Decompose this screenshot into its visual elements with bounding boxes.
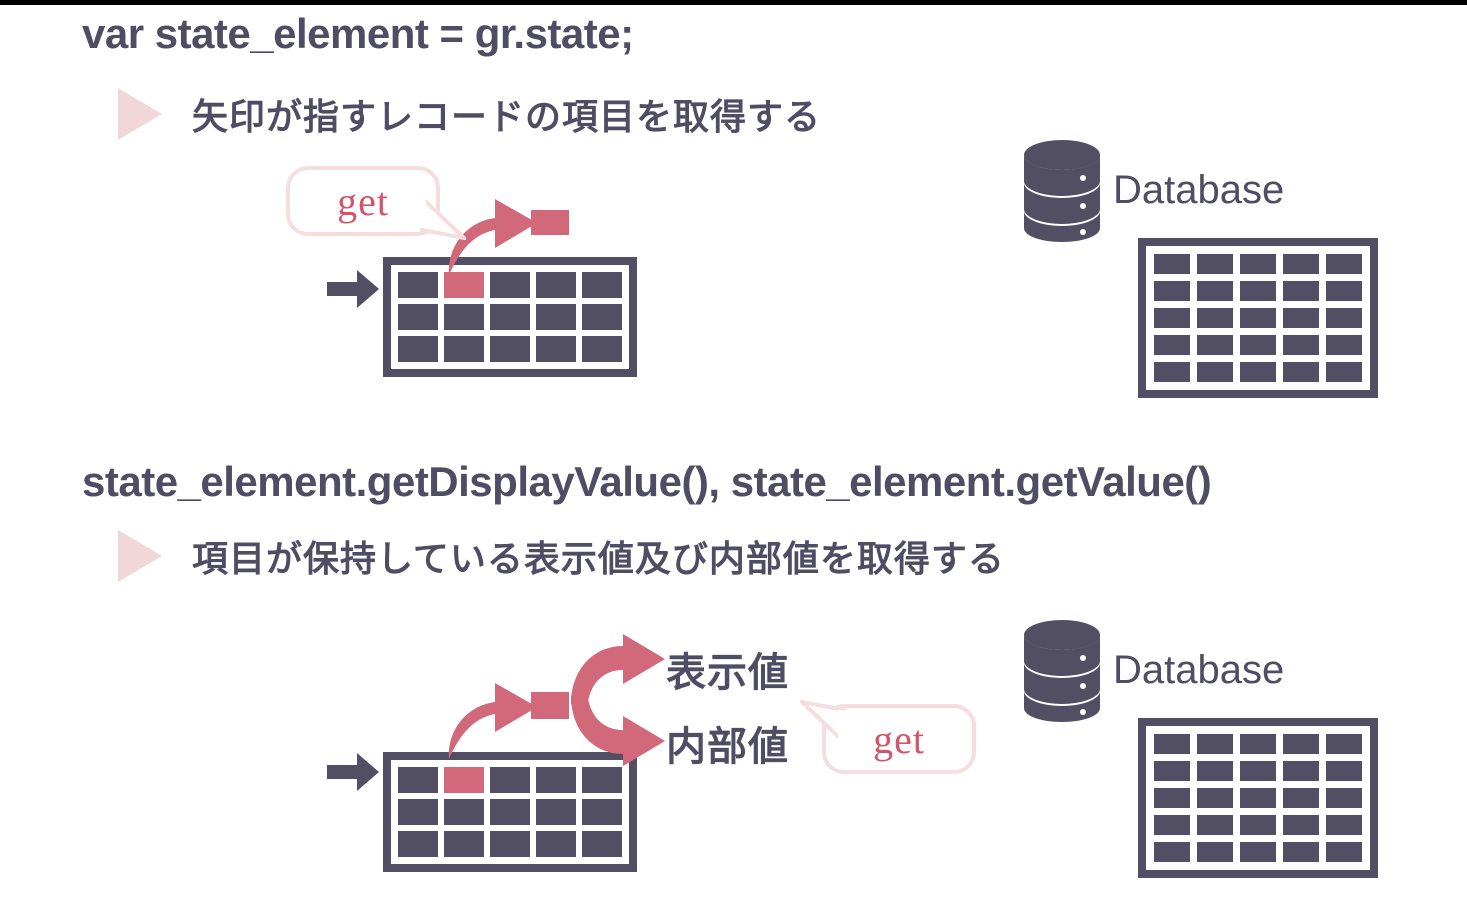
branch-label-display-value: 表示値 [666, 640, 789, 698]
db-cell [1326, 788, 1362, 808]
table-cell [444, 799, 484, 825]
table-cell [490, 304, 530, 330]
get-bubble-label: get [873, 716, 925, 763]
input-right-arrow-icon [327, 270, 379, 313]
db-cell [1240, 815, 1276, 835]
database-label-2: Database [1113, 648, 1284, 693]
db-cell [1326, 254, 1362, 274]
table-cell [490, 336, 530, 362]
db-cell [1240, 734, 1276, 754]
db-cell [1197, 788, 1233, 808]
db-cell [1283, 842, 1319, 862]
section-2-bullet-row: 項目が保持している表示値及び内部値を取得する [118, 530, 1005, 582]
section-1-heading: var state_element = gr.state; [82, 10, 634, 58]
db-cell [1240, 254, 1276, 274]
db-cell [1197, 842, 1233, 862]
db-cell [1240, 761, 1276, 781]
table-cell [444, 831, 484, 857]
db-cell [1326, 815, 1362, 835]
extracted-value-square [531, 210, 569, 235]
database-grid-2 [1138, 718, 1378, 878]
curved-arrow-icon [443, 680, 539, 765]
record-table-2-cells [391, 760, 629, 864]
db-cell [1197, 761, 1233, 781]
table-cell [398, 831, 438, 857]
db-cell [1154, 254, 1190, 274]
db-cell [1154, 761, 1190, 781]
db-cell [1283, 734, 1319, 754]
db-cell [1197, 815, 1233, 835]
db-cell [1154, 308, 1190, 328]
table-cell [398, 767, 438, 793]
database-icon [1020, 618, 1104, 727]
input-right-arrow-icon [327, 753, 379, 796]
section-2-heading: state_element.getDisplayValue(), state_e… [82, 458, 1211, 506]
section-1-bullet-text: 矢印が指すレコードの項目を取得する [192, 88, 821, 140]
db-cell [1154, 281, 1190, 301]
db-cell [1283, 362, 1319, 382]
section-1-bullet-row: 矢印が指すレコードの項目を取得する [118, 88, 821, 140]
table-cell [536, 336, 576, 362]
table-cell [536, 831, 576, 857]
table-cell [490, 767, 530, 793]
table-cell [398, 272, 438, 298]
table-cell [398, 304, 438, 330]
database-label-1: Database [1113, 168, 1284, 213]
db-cell [1240, 362, 1276, 382]
db-cell [1197, 308, 1233, 328]
table-cell [536, 304, 576, 330]
db-cell [1283, 254, 1319, 274]
table-cell [582, 799, 622, 825]
db-cell [1154, 335, 1190, 355]
db-cell [1326, 281, 1362, 301]
db-cell [1326, 842, 1362, 862]
database-grid-1-cells [1146, 246, 1370, 390]
db-cell [1154, 362, 1190, 382]
db-cell [1154, 815, 1190, 835]
db-cell [1283, 761, 1319, 781]
db-cell [1240, 308, 1276, 328]
table-cell [536, 799, 576, 825]
table-cell [444, 304, 484, 330]
db-cell [1283, 281, 1319, 301]
triangle-bullet-icon [118, 88, 162, 140]
db-cell [1154, 842, 1190, 862]
table-cell-highlighted [444, 767, 484, 793]
db-cell [1326, 734, 1362, 754]
db-cell [1197, 362, 1233, 382]
db-cell [1326, 362, 1362, 382]
db-cell [1197, 254, 1233, 274]
curved-arrow-down-icon [571, 692, 665, 766]
table-cell [582, 304, 622, 330]
db-cell [1197, 281, 1233, 301]
triangle-bullet-icon [118, 530, 162, 582]
db-cell [1240, 335, 1276, 355]
db-cell [1240, 842, 1276, 862]
db-cell [1240, 281, 1276, 301]
slide-canvas: var state_element = gr.state; 矢印が指すレコードの… [0, 0, 1467, 901]
table-cell [536, 272, 576, 298]
table-cell [490, 799, 530, 825]
database-grid-1 [1138, 238, 1378, 398]
db-cell [1283, 815, 1319, 835]
db-cell [1283, 335, 1319, 355]
db-cell [1197, 734, 1233, 754]
table-cell [490, 831, 530, 857]
top-border-band [0, 0, 1467, 5]
branch-label-internal-value: 内部値 [666, 714, 789, 772]
db-cell [1154, 788, 1190, 808]
db-cell [1197, 335, 1233, 355]
get-bubble-label: get [337, 178, 389, 225]
db-cell [1326, 308, 1362, 328]
speech-bubble-tail-icon [420, 198, 466, 245]
table-cell [582, 831, 622, 857]
database-grid-2-cells [1146, 726, 1370, 870]
db-cell [1326, 335, 1362, 355]
table-cell [582, 336, 622, 362]
db-cell [1283, 788, 1319, 808]
db-cell [1154, 734, 1190, 754]
table-cell [398, 336, 438, 362]
db-cell [1283, 308, 1319, 328]
extracted-value-square [531, 692, 569, 719]
table-cell [444, 336, 484, 362]
get-speech-bubble-1: get [286, 166, 440, 236]
speech-bubble-tail-icon [800, 700, 846, 747]
table-cell [582, 272, 622, 298]
table-cell [398, 799, 438, 825]
database-icon [1020, 138, 1104, 247]
db-cell [1240, 788, 1276, 808]
section-2-bullet-text: 項目が保持している表示値及び内部値を取得する [192, 530, 1005, 582]
db-cell [1326, 761, 1362, 781]
